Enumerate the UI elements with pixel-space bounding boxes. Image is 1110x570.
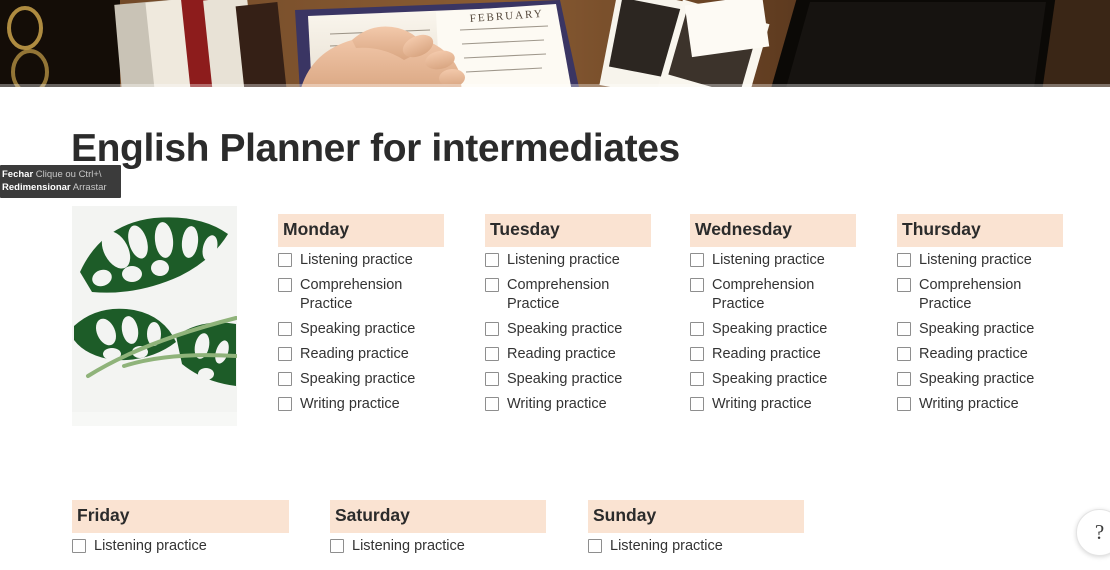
checkbox-icon[interactable] [485,278,499,292]
checkbox-icon[interactable] [690,253,704,267]
task-item[interactable]: Speaking practice [278,370,444,389]
checkbox-icon[interactable] [278,253,292,267]
day-column-thursday: Thursday Listening practice Comprehensio… [897,214,1063,420]
checkbox-icon[interactable] [485,347,499,361]
task-item[interactable]: Comprehension Practice [897,276,1063,314]
window-control-tooltip: Fechar Clique ou Ctrl+\ Redimensionar Ar… [0,165,121,198]
task-list-thursday: Listening practice Comprehension Practic… [897,251,1063,414]
task-item[interactable]: Listening practice [588,537,804,556]
tooltip-close-hint: Clique ou Ctrl+\ [36,169,102,180]
day-column-friday: Friday Listening practice [72,500,289,562]
checkbox-icon[interactable] [485,397,499,411]
task-item[interactable]: Listening practice [330,537,546,556]
monstera-plant-image [72,206,237,426]
checkbox-icon[interactable] [278,347,292,361]
checkbox-icon[interactable] [330,539,344,553]
checkbox-icon[interactable] [897,322,911,336]
day-column-wednesday: Wednesday Listening practice Comprehensi… [690,214,856,420]
checkbox-icon[interactable] [278,322,292,336]
day-header-wednesday: Wednesday [690,214,856,247]
checkbox-icon[interactable] [72,539,86,553]
checkbox-icon[interactable] [897,372,911,386]
task-list-friday: Listening practice [72,537,289,556]
task-list-tuesday: Listening practice Comprehension Practic… [485,251,651,414]
task-item[interactable]: Speaking practice [690,370,856,389]
day-column-saturday: Saturday Listening practice [330,500,546,562]
task-item[interactable]: Speaking practice [690,320,856,339]
task-item[interactable]: Listening practice [72,537,289,556]
checkbox-icon[interactable] [485,253,499,267]
checkbox-icon[interactable] [278,397,292,411]
page-title: English Planner for intermediates [71,128,680,171]
task-item[interactable]: Speaking practice [485,320,651,339]
tooltip-resize-hint: Arrastar [73,182,107,193]
task-item[interactable]: Speaking practice [278,320,444,339]
checkbox-icon[interactable] [690,372,704,386]
day-header-saturday: Saturday [330,500,546,533]
checkbox-icon[interactable] [485,372,499,386]
task-item[interactable]: Reading practice [690,345,856,364]
task-item[interactable]: Writing practice [278,395,444,414]
task-item[interactable]: Comprehension Practice [485,276,651,314]
help-button[interactable]: ? [1076,509,1110,556]
task-item[interactable]: Reading practice [278,345,444,364]
checkbox-icon[interactable] [897,397,911,411]
day-header-sunday: Sunday [588,500,804,533]
task-list-wednesday: Listening practice Comprehension Practic… [690,251,856,414]
day-header-tuesday: Tuesday [485,214,651,247]
task-item[interactable]: Listening practice [690,251,856,270]
checkbox-icon[interactable] [278,278,292,292]
task-item[interactable]: Listening practice [278,251,444,270]
task-item[interactable]: Listening practice [897,251,1063,270]
checkbox-icon[interactable] [278,372,292,386]
tooltip-close-row: Fechar Clique ou Ctrl+\ [2,168,116,181]
checkbox-icon[interactable] [897,347,911,361]
task-item[interactable]: Speaking practice [897,320,1063,339]
day-header-friday: Friday [72,500,289,533]
checkbox-icon[interactable] [690,397,704,411]
tooltip-resize-row: Redimensionar Arrastar [2,181,116,194]
task-item[interactable]: Speaking practice [485,370,651,389]
checkbox-icon[interactable] [690,347,704,361]
day-header-thursday: Thursday [897,214,1063,247]
task-item[interactable]: Reading practice [897,345,1063,364]
task-item[interactable]: Comprehension Practice [278,276,444,314]
task-list-saturday: Listening practice [330,537,546,556]
checkbox-icon[interactable] [485,322,499,336]
checkbox-icon[interactable] [690,322,704,336]
checkbox-icon[interactable] [690,278,704,292]
task-item[interactable]: Writing practice [897,395,1063,414]
task-item[interactable]: Reading practice [485,345,651,364]
day-column-sunday: Sunday Listening practice [588,500,804,562]
task-item[interactable]: Listening practice [485,251,651,270]
task-item[interactable]: Comprehension Practice [690,276,856,314]
checkbox-icon[interactable] [897,253,911,267]
hero-banner-image: FEBRUARY [0,0,1110,87]
checkbox-icon[interactable] [897,278,911,292]
task-item[interactable]: Writing practice [690,395,856,414]
day-column-monday: Monday Listening practice Comprehension … [278,214,444,420]
task-list-sunday: Listening practice [588,537,804,556]
day-header-monday: Monday [278,214,444,247]
task-item[interactable]: Speaking practice [897,370,1063,389]
tooltip-resize-label: Redimensionar [2,182,71,193]
question-mark-icon: ? [1095,520,1104,545]
task-item[interactable]: Writing practice [485,395,651,414]
tooltip-close-label: Fechar [2,169,33,180]
day-column-tuesday: Tuesday Listening practice Comprehension… [485,214,651,420]
planner-page: FEBRUARY English Pl [0,0,1110,570]
checkbox-icon[interactable] [588,539,602,553]
task-list-monday: Listening practice Comprehension Practic… [278,251,444,414]
